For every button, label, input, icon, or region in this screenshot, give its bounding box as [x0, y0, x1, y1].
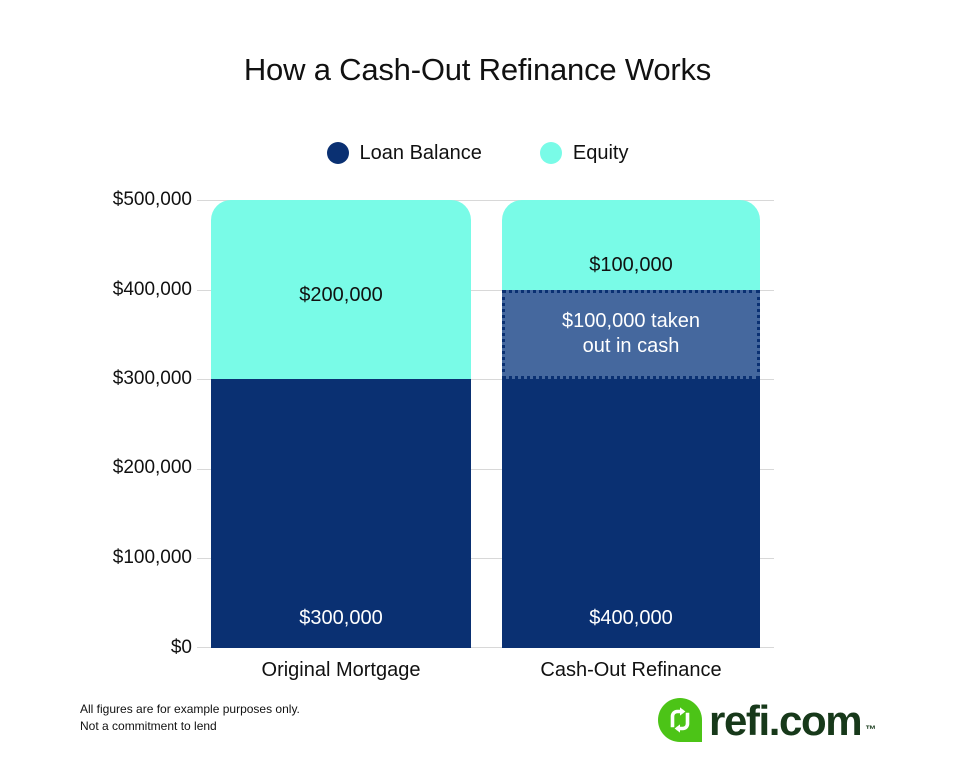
- y-tick-200000: $200,000: [42, 457, 192, 479]
- y-tick-400000: $400,000: [42, 279, 192, 301]
- legend-label-loan-balance: Loan Balance: [360, 143, 482, 163]
- legend-item-loan-balance[interactable]: Loan Balance: [327, 142, 482, 164]
- y-tick-300000: $300,000: [42, 368, 192, 390]
- cash-out-callout-line2: out in cash: [583, 335, 680, 357]
- plot-area: $200,000 $300,000 $100,000 $400,000 $100…: [211, 200, 760, 648]
- legend-item-equity[interactable]: Equity: [540, 142, 629, 164]
- y-tick-100000: $100,000: [42, 547, 192, 569]
- footnote: All figures are for example purposes onl…: [80, 701, 300, 736]
- chart-legend: Loan Balance Equity: [0, 142, 955, 164]
- bar-value-equity-cashout: $100,000: [502, 253, 760, 277]
- refi-logo[interactable]: refi.com ™: [658, 698, 879, 742]
- bar-original-mortgage[interactable]: $200,000 $300,000: [211, 200, 471, 648]
- category-label-original-mortgage: Original Mortgage: [211, 659, 471, 682]
- page-title: How a Cash-Out Refinance Works: [0, 52, 955, 88]
- bar-segment-equity-original[interactable]: $200,000: [211, 200, 471, 379]
- cash-out-callout[interactable]: $100,000 taken out in cash: [502, 290, 760, 380]
- y-axis: $500,000 $400,000 $300,000 $200,000 $100…: [40, 200, 192, 648]
- refi-recycle-icon: [658, 698, 702, 742]
- y-tick-0: $0: [42, 637, 192, 659]
- bar-value-loan-cashout: $400,000: [502, 606, 760, 630]
- footnote-line-2: Not a commitment to lend: [80, 718, 300, 735]
- legend-label-equity: Equity: [573, 143, 629, 163]
- chart-page: How a Cash-Out Refinance Works Loan Bala…: [0, 0, 955, 780]
- bar-segment-equity-cashout[interactable]: $100,000: [502, 200, 760, 290]
- legend-swatch-loan-balance: [327, 142, 349, 164]
- cash-out-callout-line1: $100,000 taken: [562, 310, 700, 332]
- y-tick-500000: $500,000: [42, 189, 192, 211]
- legend-swatch-equity: [540, 142, 562, 164]
- refi-wordmark: refi.com: [709, 700, 861, 742]
- trademark-symbol: ™: [865, 724, 876, 736]
- bar-segment-loan-original[interactable]: $300,000: [211, 379, 471, 648]
- bar-value-equity-original: $200,000: [211, 283, 471, 307]
- cash-out-callout-text: $100,000 taken out in cash: [552, 309, 710, 360]
- footnote-line-1: All figures are for example purposes onl…: [80, 701, 300, 718]
- bar-cash-out-refinance[interactable]: $100,000 $400,000 $100,000 taken out in …: [502, 200, 760, 648]
- category-label-cash-out-refinance: Cash-Out Refinance: [502, 659, 760, 682]
- bar-value-loan-original: $300,000: [211, 606, 471, 630]
